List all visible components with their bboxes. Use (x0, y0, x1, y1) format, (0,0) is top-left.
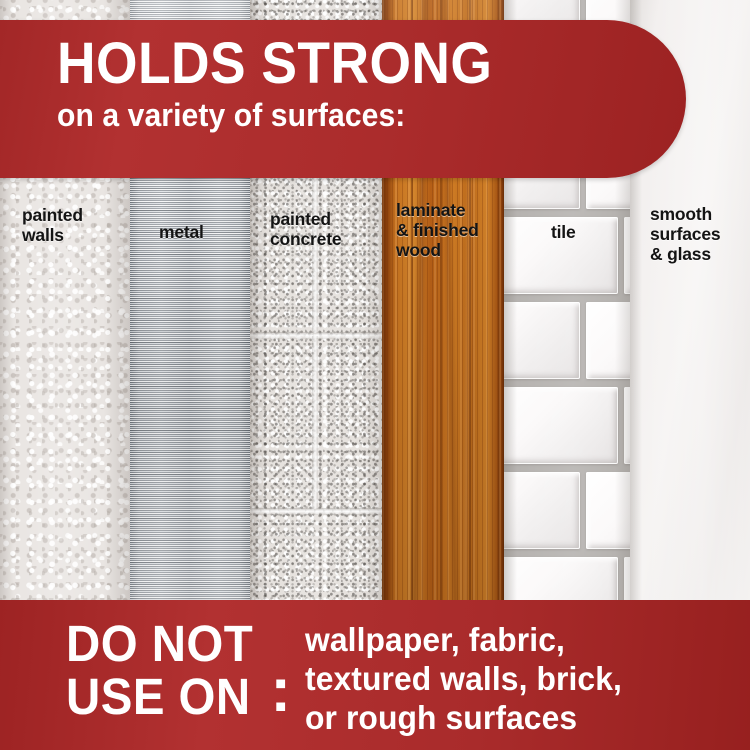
do-not-use-heading-group: DO NOT USE ON : (0, 617, 291, 723)
infographic-canvas: painted walls metal painted concrete lam… (0, 0, 750, 750)
holds-strong-banner: HOLDS STRONG on a variety of surfaces: (0, 20, 686, 178)
surface-label-tile: tile (551, 222, 576, 242)
do-not-use-colon: : (270, 660, 291, 722)
surface-label-painted-walls: painted walls (22, 205, 83, 245)
surface-label-smooth-glass: smooth surfaces & glass (650, 204, 720, 264)
subheadline-variety-of-surfaces: on a variety of surfaces: (57, 97, 648, 133)
do-not-use-heading: DO NOT USE ON (66, 617, 253, 723)
do-not-use-surface-list: wallpaper, fabric, textured walls, brick… (305, 621, 622, 738)
do-not-use-banner: DO NOT USE ON : wallpaper, fabric, textu… (0, 600, 750, 750)
surface-label-laminate-wood: laminate & finished wood (396, 200, 479, 260)
headline-holds-strong: HOLDS STRONG (57, 33, 636, 95)
surface-label-painted-concrete: painted concrete (270, 209, 341, 249)
surface-label-metal: metal (159, 222, 204, 242)
